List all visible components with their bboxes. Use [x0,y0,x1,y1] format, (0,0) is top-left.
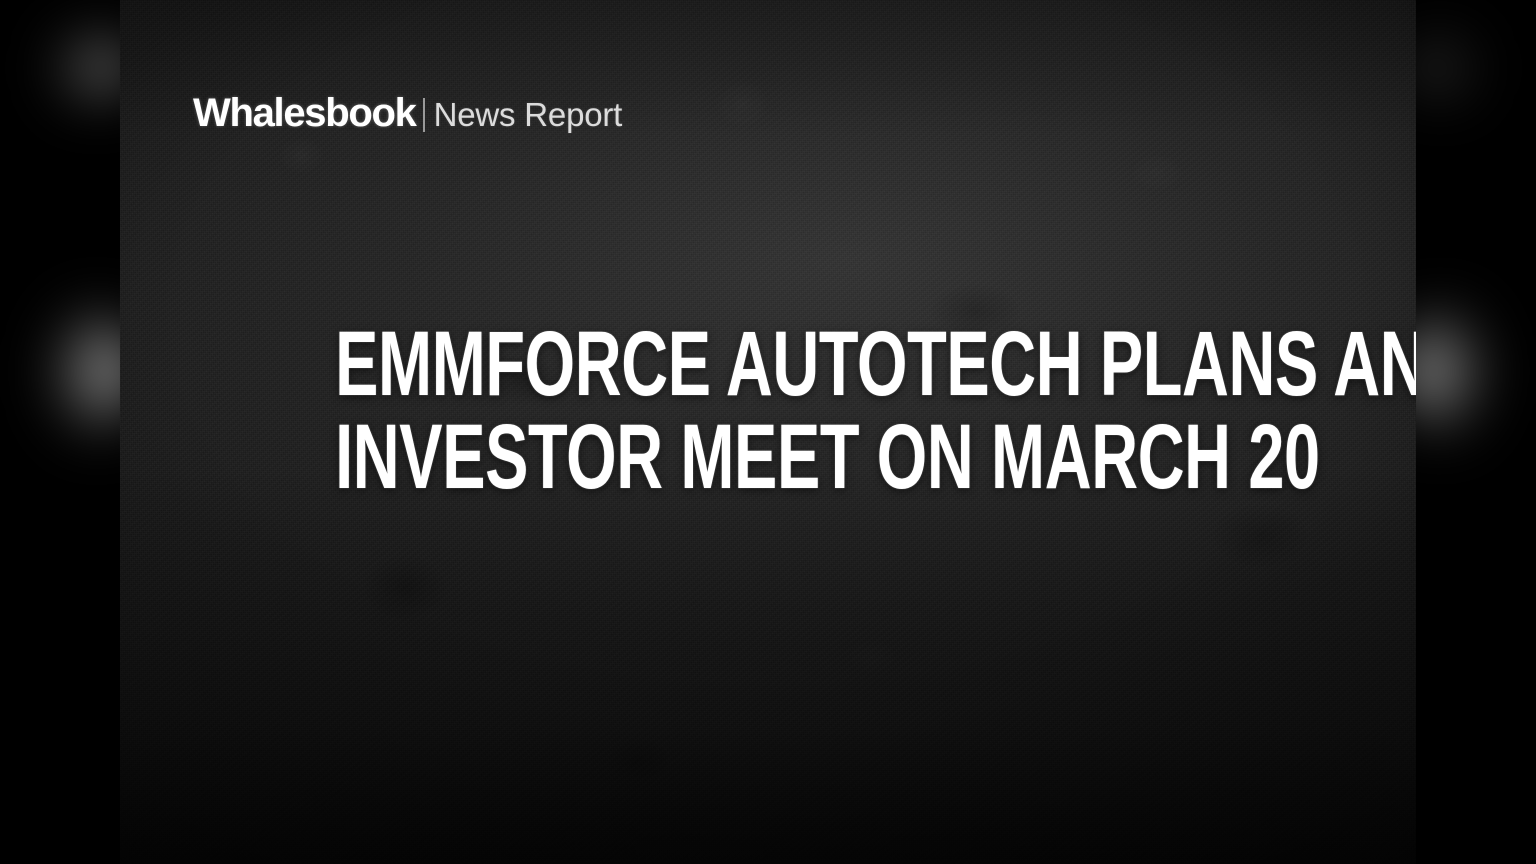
headline: EMMFORCE AUTOTECH PLANS ANALYST & INVEST… [120,318,1416,504]
card-content: Whalesbook News Report EMMFORCE AUTOTECH… [120,0,1416,864]
headline-line-1: EMMFORCE AUTOTECH PLANS ANALYST & [335,318,1201,411]
news-card-panel: Whalesbook News Report EMMFORCE AUTOTECH… [120,0,1416,864]
brand-lockup: Whalesbook News Report [193,93,622,133]
brand-subtitle: News Report [434,98,623,131]
news-card-stage: Whalesbook News Report EMMFORCE AUTOTECH… [0,0,1536,864]
headline-line-2: INVESTOR MEET ON MARCH 20 [335,411,1201,504]
brand-divider-icon [423,98,425,132]
brand-name: Whalesbook [193,93,416,133]
backdrop-glow-top-right [1406,24,1486,110]
